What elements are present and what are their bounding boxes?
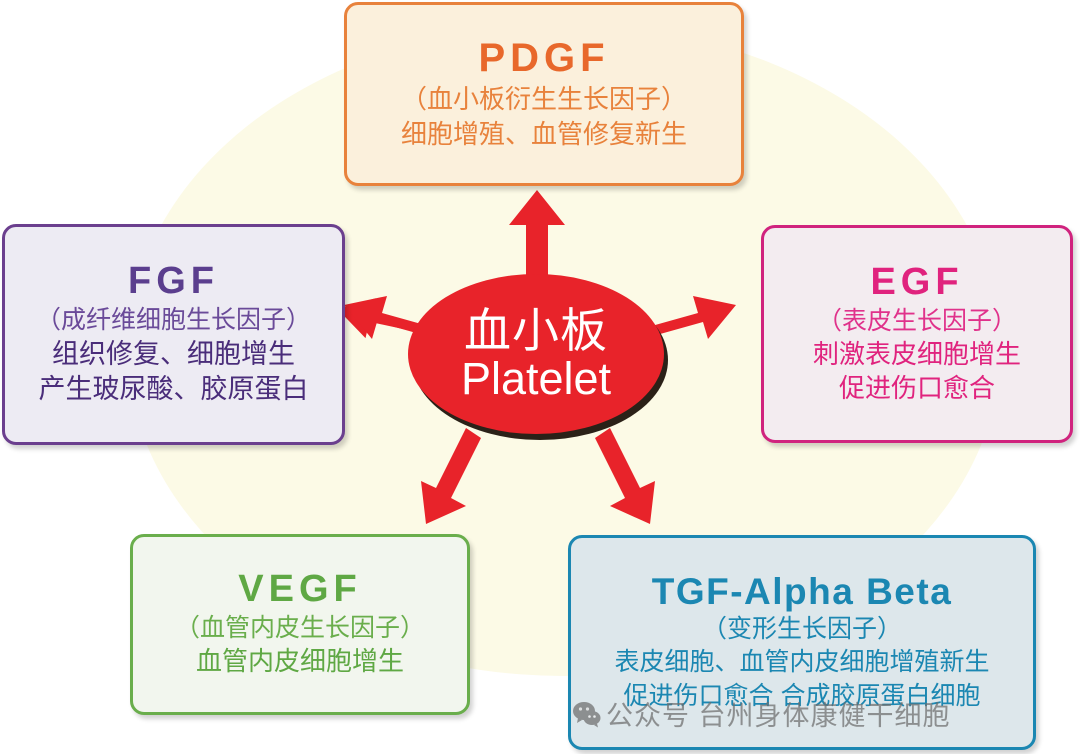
- factor-card-egf[interactable]: EGF （表皮生长因子） 刺激表皮细胞增生 促进伤口愈合: [761, 225, 1073, 443]
- egf-subtitle: （表皮生长因子）: [817, 305, 1017, 337]
- arrow-to-tgf: [595, 428, 655, 524]
- pdgf-description-line-1: 细胞增殖、血管修复新生: [401, 118, 687, 151]
- vegf-acronym: VEGF: [238, 570, 361, 610]
- platelet-center-node[interactable]: 血小板 Platelet: [408, 274, 664, 434]
- factor-card-tgf[interactable]: TGF-Alpha Beta （变形生长因子） 表皮细胞、血管内皮细胞增殖新生 …: [568, 535, 1036, 750]
- diagram-canvas: 血小板 Platelet PDGF （血小板衍生生长因子） 细胞增殖、血管修复新…: [0, 0, 1080, 754]
- fgf-description-line-1: 组织修复、细胞增生: [52, 337, 295, 372]
- platelet-label-en: Platelet: [461, 356, 611, 401]
- fgf-description-line-2: 产生玻尿酸、胶原蛋白: [39, 372, 309, 407]
- pdgf-subtitle: （血小板衍生生长因子）: [401, 83, 687, 116]
- factor-card-pdgf[interactable]: PDGF （血小板衍生生长因子） 细胞增殖、血管修复新生: [344, 2, 744, 186]
- tgf-subtitle: （变形生长因子）: [702, 613, 902, 645]
- arrow-to-vegf: [421, 428, 481, 524]
- factor-card-vegf[interactable]: VEGF （血管内皮生长因子） 血管内皮细胞增生: [130, 534, 470, 715]
- fgf-acronym: FGF: [128, 262, 219, 302]
- tgf-acronym: TGF-Alpha Beta: [652, 573, 953, 612]
- egf-description-line-1: 刺激表皮细胞增生: [813, 338, 1021, 371]
- egf-acronym: EGF: [870, 263, 963, 303]
- vegf-description-line-1: 血管内皮细胞增生: [196, 645, 404, 678]
- arrow-to-egf: [648, 296, 736, 339]
- platelet-label-cn: 血小板: [464, 307, 608, 354]
- egf-description-line-2: 促进伤口愈合: [839, 372, 995, 405]
- pdgf-acronym: PDGF: [478, 37, 609, 79]
- factor-card-fgf[interactable]: FGF （成纤维细胞生长因子） 组织修复、细胞增生 产生玻尿酸、胶原蛋白: [2, 224, 345, 445]
- vegf-subtitle: （血管内皮生长因子）: [175, 612, 425, 644]
- tgf-description-line-1: 表皮细胞、血管内皮细胞增殖新生: [614, 646, 989, 678]
- fgf-subtitle: （成纤维细胞生长因子）: [36, 304, 311, 336]
- tgf-description-line-2: 促进伤口愈合 合成胶原蛋白细胞: [624, 680, 981, 712]
